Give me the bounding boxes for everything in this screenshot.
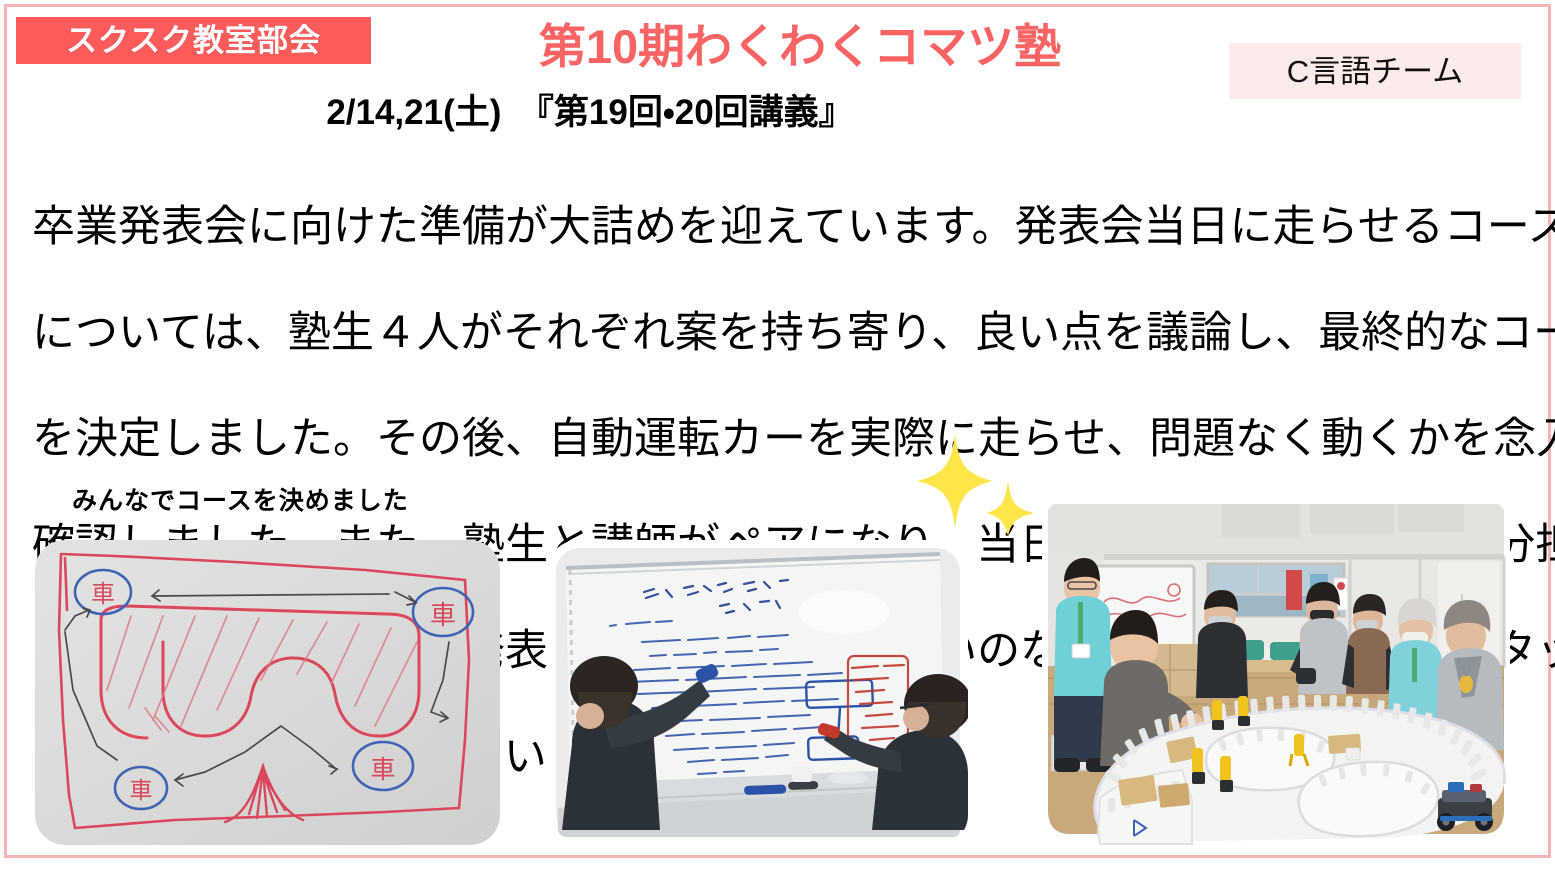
- car-marker-label: 車: [130, 778, 153, 804]
- car-marker-label: 車: [370, 755, 395, 784]
- team-badge: C言語チーム: [1229, 43, 1521, 99]
- page-header: スクスク教室部会 第10期わくわくコマツ塾 C言語チーム 2/14,21(土) …: [0, 0, 1555, 140]
- photo-course-demonstration: [1042, 498, 1510, 845]
- photo-whiteboard-course-drawing: 車 車 車 車: [35, 540, 500, 845]
- sparkle-decoration: [915, 432, 1040, 537]
- body-line: については、塾生４人がそれぞれ案を持ち寄り、良い点を議論し、最終的なコース: [32, 307, 1532, 360]
- demo-room-illustration: [1042, 498, 1510, 845]
- car-marker-label: 車: [91, 580, 115, 608]
- page-title: 第10期わくわくコマツ塾: [385, 20, 1215, 74]
- department-badge: スクスク教室部会: [16, 17, 371, 64]
- lecture-subtitle: 2/14,21(土) 『第19回・20回講義』: [0, 92, 1180, 134]
- body-line: を決定しました。その後、自動運転カーを実際に走らせ、問題なく動くかを念入りに: [32, 413, 1532, 466]
- car-marker-label: 車: [430, 601, 456, 631]
- photo-students-at-whiteboard: [548, 540, 968, 845]
- newsletter-page: スクスク教室部会 第10期わくわくコマツ塾 C言語チーム 2/14,21(土) …: [0, 0, 1555, 871]
- sparkle-icon: [915, 432, 1040, 537]
- whiteboard-scene-illustration: [548, 540, 968, 845]
- photo-caption: みんなでコースを決めました: [72, 489, 409, 514]
- body-line: 卒業発表会に向けた準備が大詰めを迎えています。発表会当日に走らせるコース: [32, 201, 1532, 254]
- course-drawing-illustration: 車 車 車 車: [35, 540, 500, 845]
